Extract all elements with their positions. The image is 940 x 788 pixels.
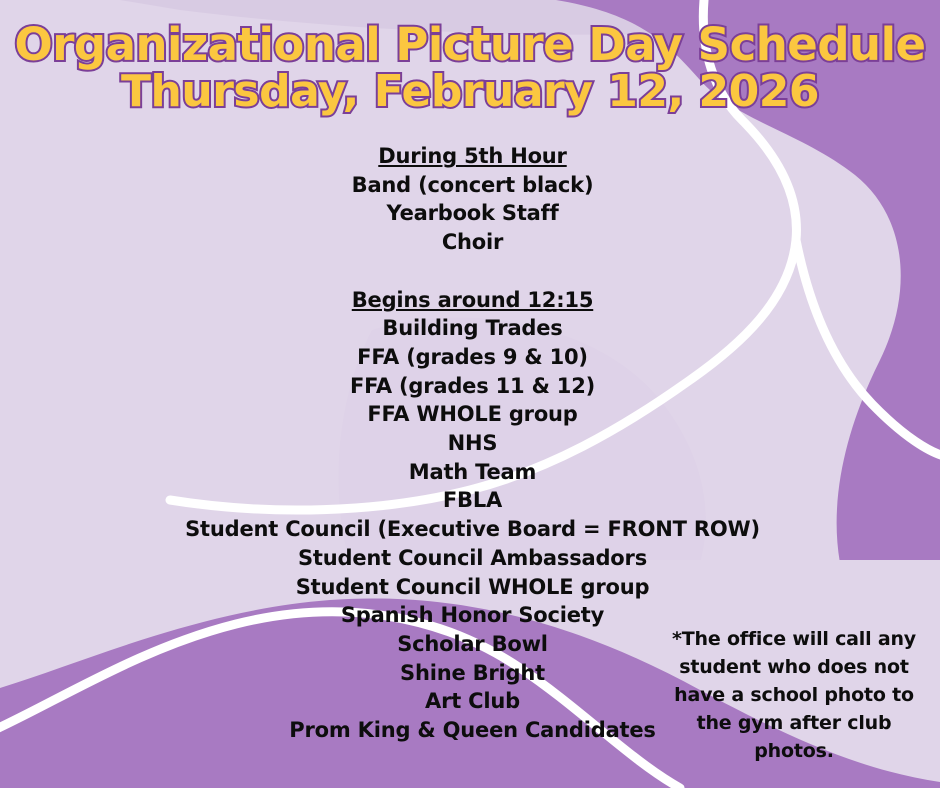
list-item: FBLA — [40, 486, 905, 515]
list-item: Math Team — [40, 458, 905, 487]
list-item: Student Council (Executive Board = FRONT… — [40, 515, 905, 544]
list-item: NHS — [40, 429, 905, 458]
list-item: Yearbook Staff — [40, 199, 905, 228]
poster-title: Organizational Picture Day Schedule Thur… — [0, 22, 940, 115]
list-item: Band (concert black) — [40, 171, 905, 200]
list-item: FFA (grades 11 & 12) — [40, 372, 905, 401]
section-heading-during-5th-hour: During 5th Hour — [40, 142, 905, 171]
list-item: Student Council WHOLE group — [40, 573, 905, 602]
list-item: Student Council Ambassadors — [40, 544, 905, 573]
list-item: FFA (grades 9 & 10) — [40, 343, 905, 372]
list-item: FFA WHOLE group — [40, 400, 905, 429]
section-spacer — [40, 257, 905, 286]
section-heading-begins-around-1215: Begins around 12:15 — [40, 286, 905, 315]
picture-day-schedule-poster: Organizational Picture Day Schedule Thur… — [0, 0, 940, 788]
list-item: Choir — [40, 228, 905, 257]
title-line-2: Thursday, February 12, 2026 — [0, 70, 940, 115]
footnote-text: *The office will call any student who do… — [672, 625, 916, 765]
title-line-1: Organizational Picture Day Schedule — [0, 22, 940, 68]
list-item: Building Trades — [40, 314, 905, 343]
